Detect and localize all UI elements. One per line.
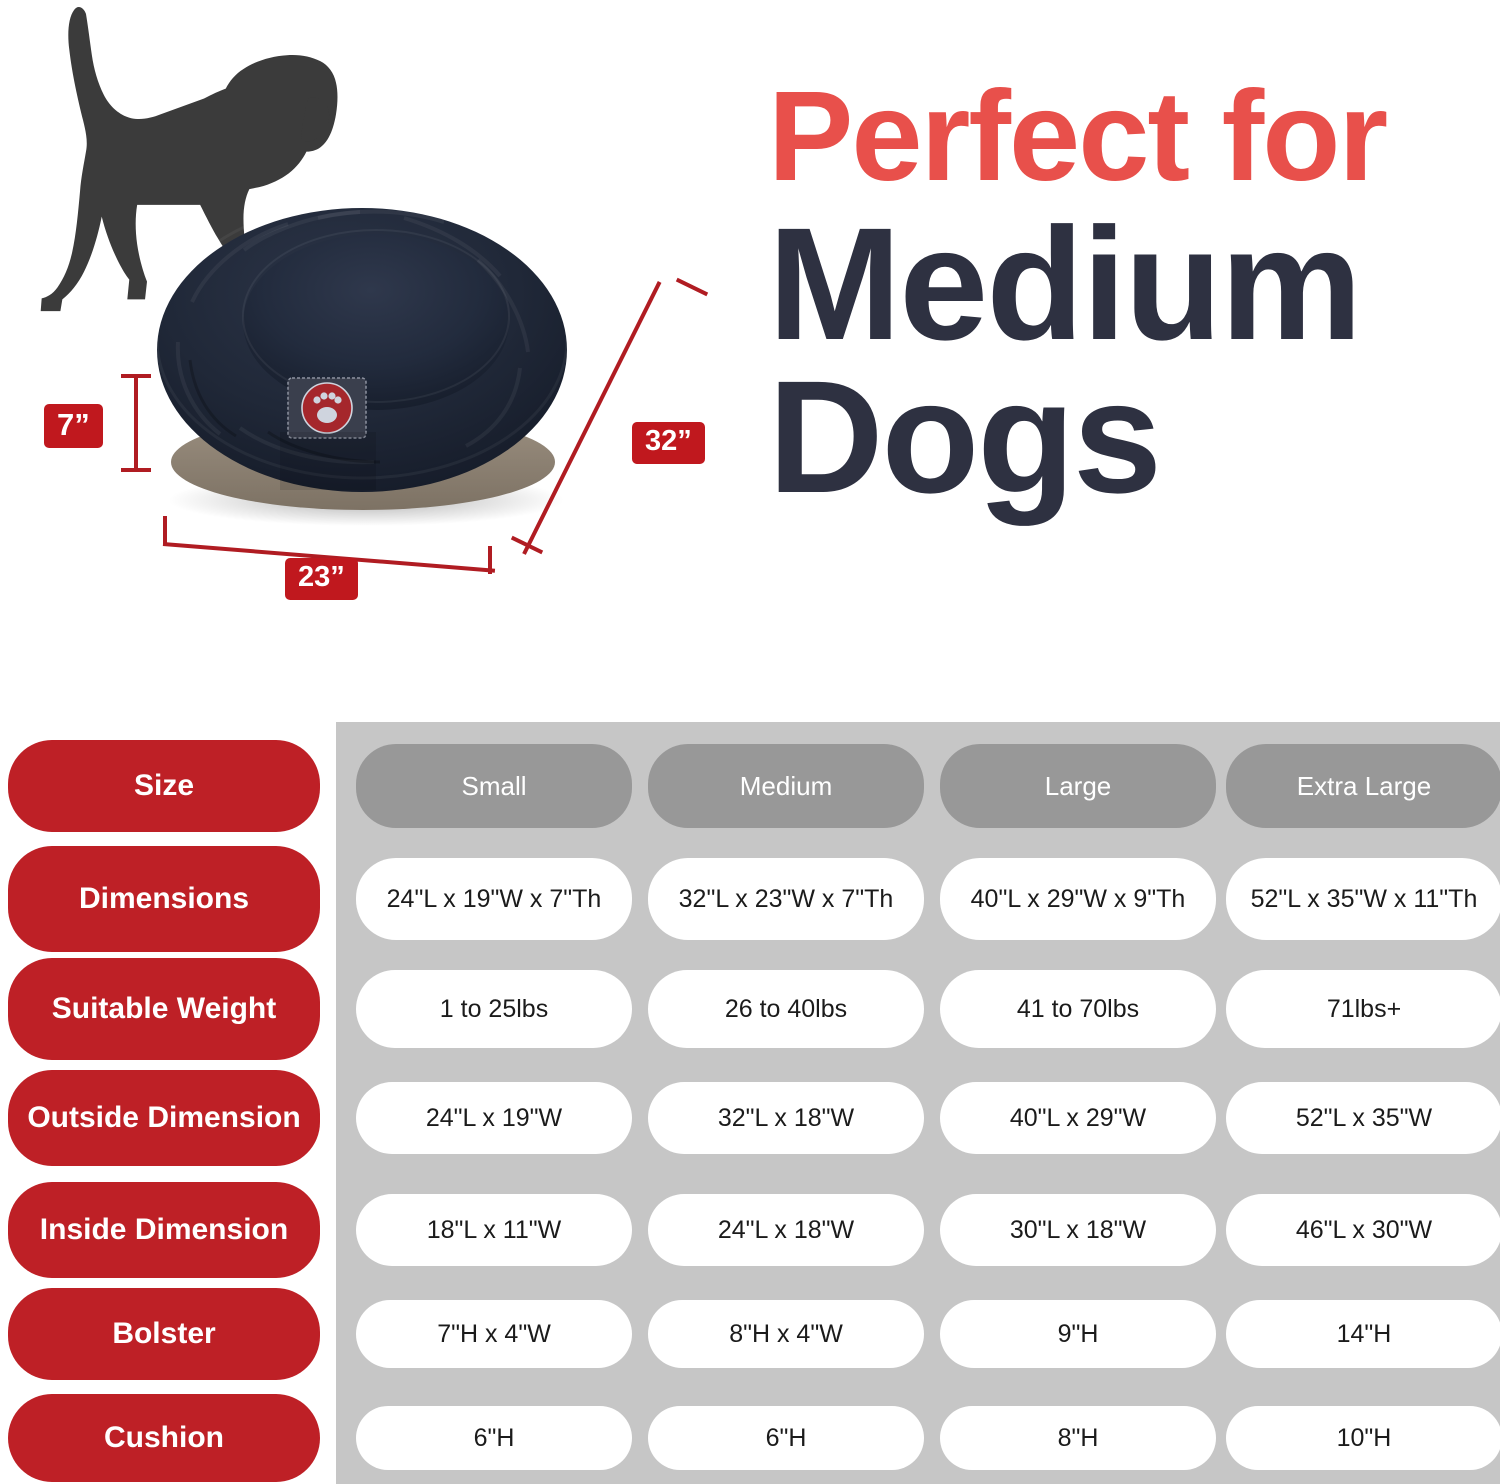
dog-bed-product-image: [148, 182, 578, 534]
table-cell: 9"H: [940, 1300, 1216, 1368]
table-cell: 71lbs+: [1226, 970, 1500, 1048]
table-cell: 1 to 25lbs: [356, 970, 632, 1048]
height-callout-badge: 7”: [44, 404, 103, 448]
height-measure-cap-top: [121, 374, 151, 378]
height-measure-cap-bottom: [121, 468, 151, 472]
row-label-dimensions: Dimensions: [8, 846, 320, 952]
table-cell: 6"H: [648, 1406, 924, 1470]
row-label-bolster: Bolster: [8, 1288, 320, 1380]
table-cell: 40"L x 29"W: [940, 1082, 1216, 1154]
table-cell: 41 to 70lbs: [940, 970, 1216, 1048]
headline-line-1: Perfect for: [768, 78, 1488, 196]
headline: Perfect for Medium Dogs: [768, 78, 1488, 510]
width-measure-cap-left: [163, 516, 167, 544]
table-cell: 8"H x 4"W: [648, 1300, 924, 1368]
row-label-suitable-weight: Suitable Weight: [8, 958, 320, 1060]
row-label-cushion: Cushion: [8, 1394, 320, 1482]
table-cell: 18"L x 11"W: [356, 1194, 632, 1266]
table-cell: 52"L x 35"W x 11"Th: [1226, 858, 1500, 940]
table-cell: 32"L x 18"W: [648, 1082, 924, 1154]
column-header-small: Small: [356, 744, 632, 828]
height-measure-line: [134, 374, 138, 472]
table-cell: 24"L x 18"W: [648, 1194, 924, 1266]
table-cell: 46"L x 30"W: [1226, 1194, 1500, 1266]
headline-line-2: Medium: [768, 210, 1488, 357]
table-panel-background: SmallMediumLargeExtra Large24"L x 19"W x…: [336, 722, 1500, 1484]
table-cell: 8"H: [940, 1406, 1216, 1470]
column-header-extra-large: Extra Large: [1226, 744, 1500, 828]
brand-tag-icon: [288, 378, 366, 438]
table-cell: 14"H: [1226, 1300, 1500, 1368]
specification-table: SmallMediumLargeExtra Large24"L x 19"W x…: [0, 722, 1500, 1484]
table-cell: 40"L x 29"W x 9"Th: [940, 858, 1216, 940]
row-label-size: Size: [8, 740, 320, 832]
hero-section: 7” 23” 32” Perfect for Medium Dogs: [0, 0, 1500, 700]
table-cell: 52"L x 35"W: [1226, 1082, 1500, 1154]
table-cell: 6"H: [356, 1406, 632, 1470]
column-header-medium: Medium: [648, 744, 924, 828]
column-header-large: Large: [940, 744, 1216, 828]
table-row-label-column: SizeDimensionsSuitable WeightOutside Dim…: [8, 722, 320, 1484]
width-measure-cap-right: [488, 546, 492, 574]
table-cell: 24"L x 19"W x 7"Th: [356, 858, 632, 940]
width-callout-badge: 23”: [285, 558, 358, 600]
table-cell: 7"H x 4"W: [356, 1300, 632, 1368]
table-cell: 26 to 40lbs: [648, 970, 924, 1048]
row-label-outside-dimension: Outside Dimension: [8, 1070, 320, 1166]
headline-line-3: Dogs: [768, 363, 1488, 510]
table-cell: 24"L x 19"W: [356, 1082, 632, 1154]
table-cell: 32"L x 23"W x 7"Th: [648, 858, 924, 940]
length-measure-cap-top: [676, 278, 708, 296]
table-cell: 10"H: [1226, 1406, 1500, 1470]
length-callout-badge: 32”: [632, 422, 705, 464]
row-label-inside-dimension: Inside Dimension: [8, 1182, 320, 1278]
table-value-grid: SmallMediumLargeExtra Large24"L x 19"W x…: [336, 722, 1500, 1484]
table-cell: 30"L x 18"W: [940, 1194, 1216, 1266]
